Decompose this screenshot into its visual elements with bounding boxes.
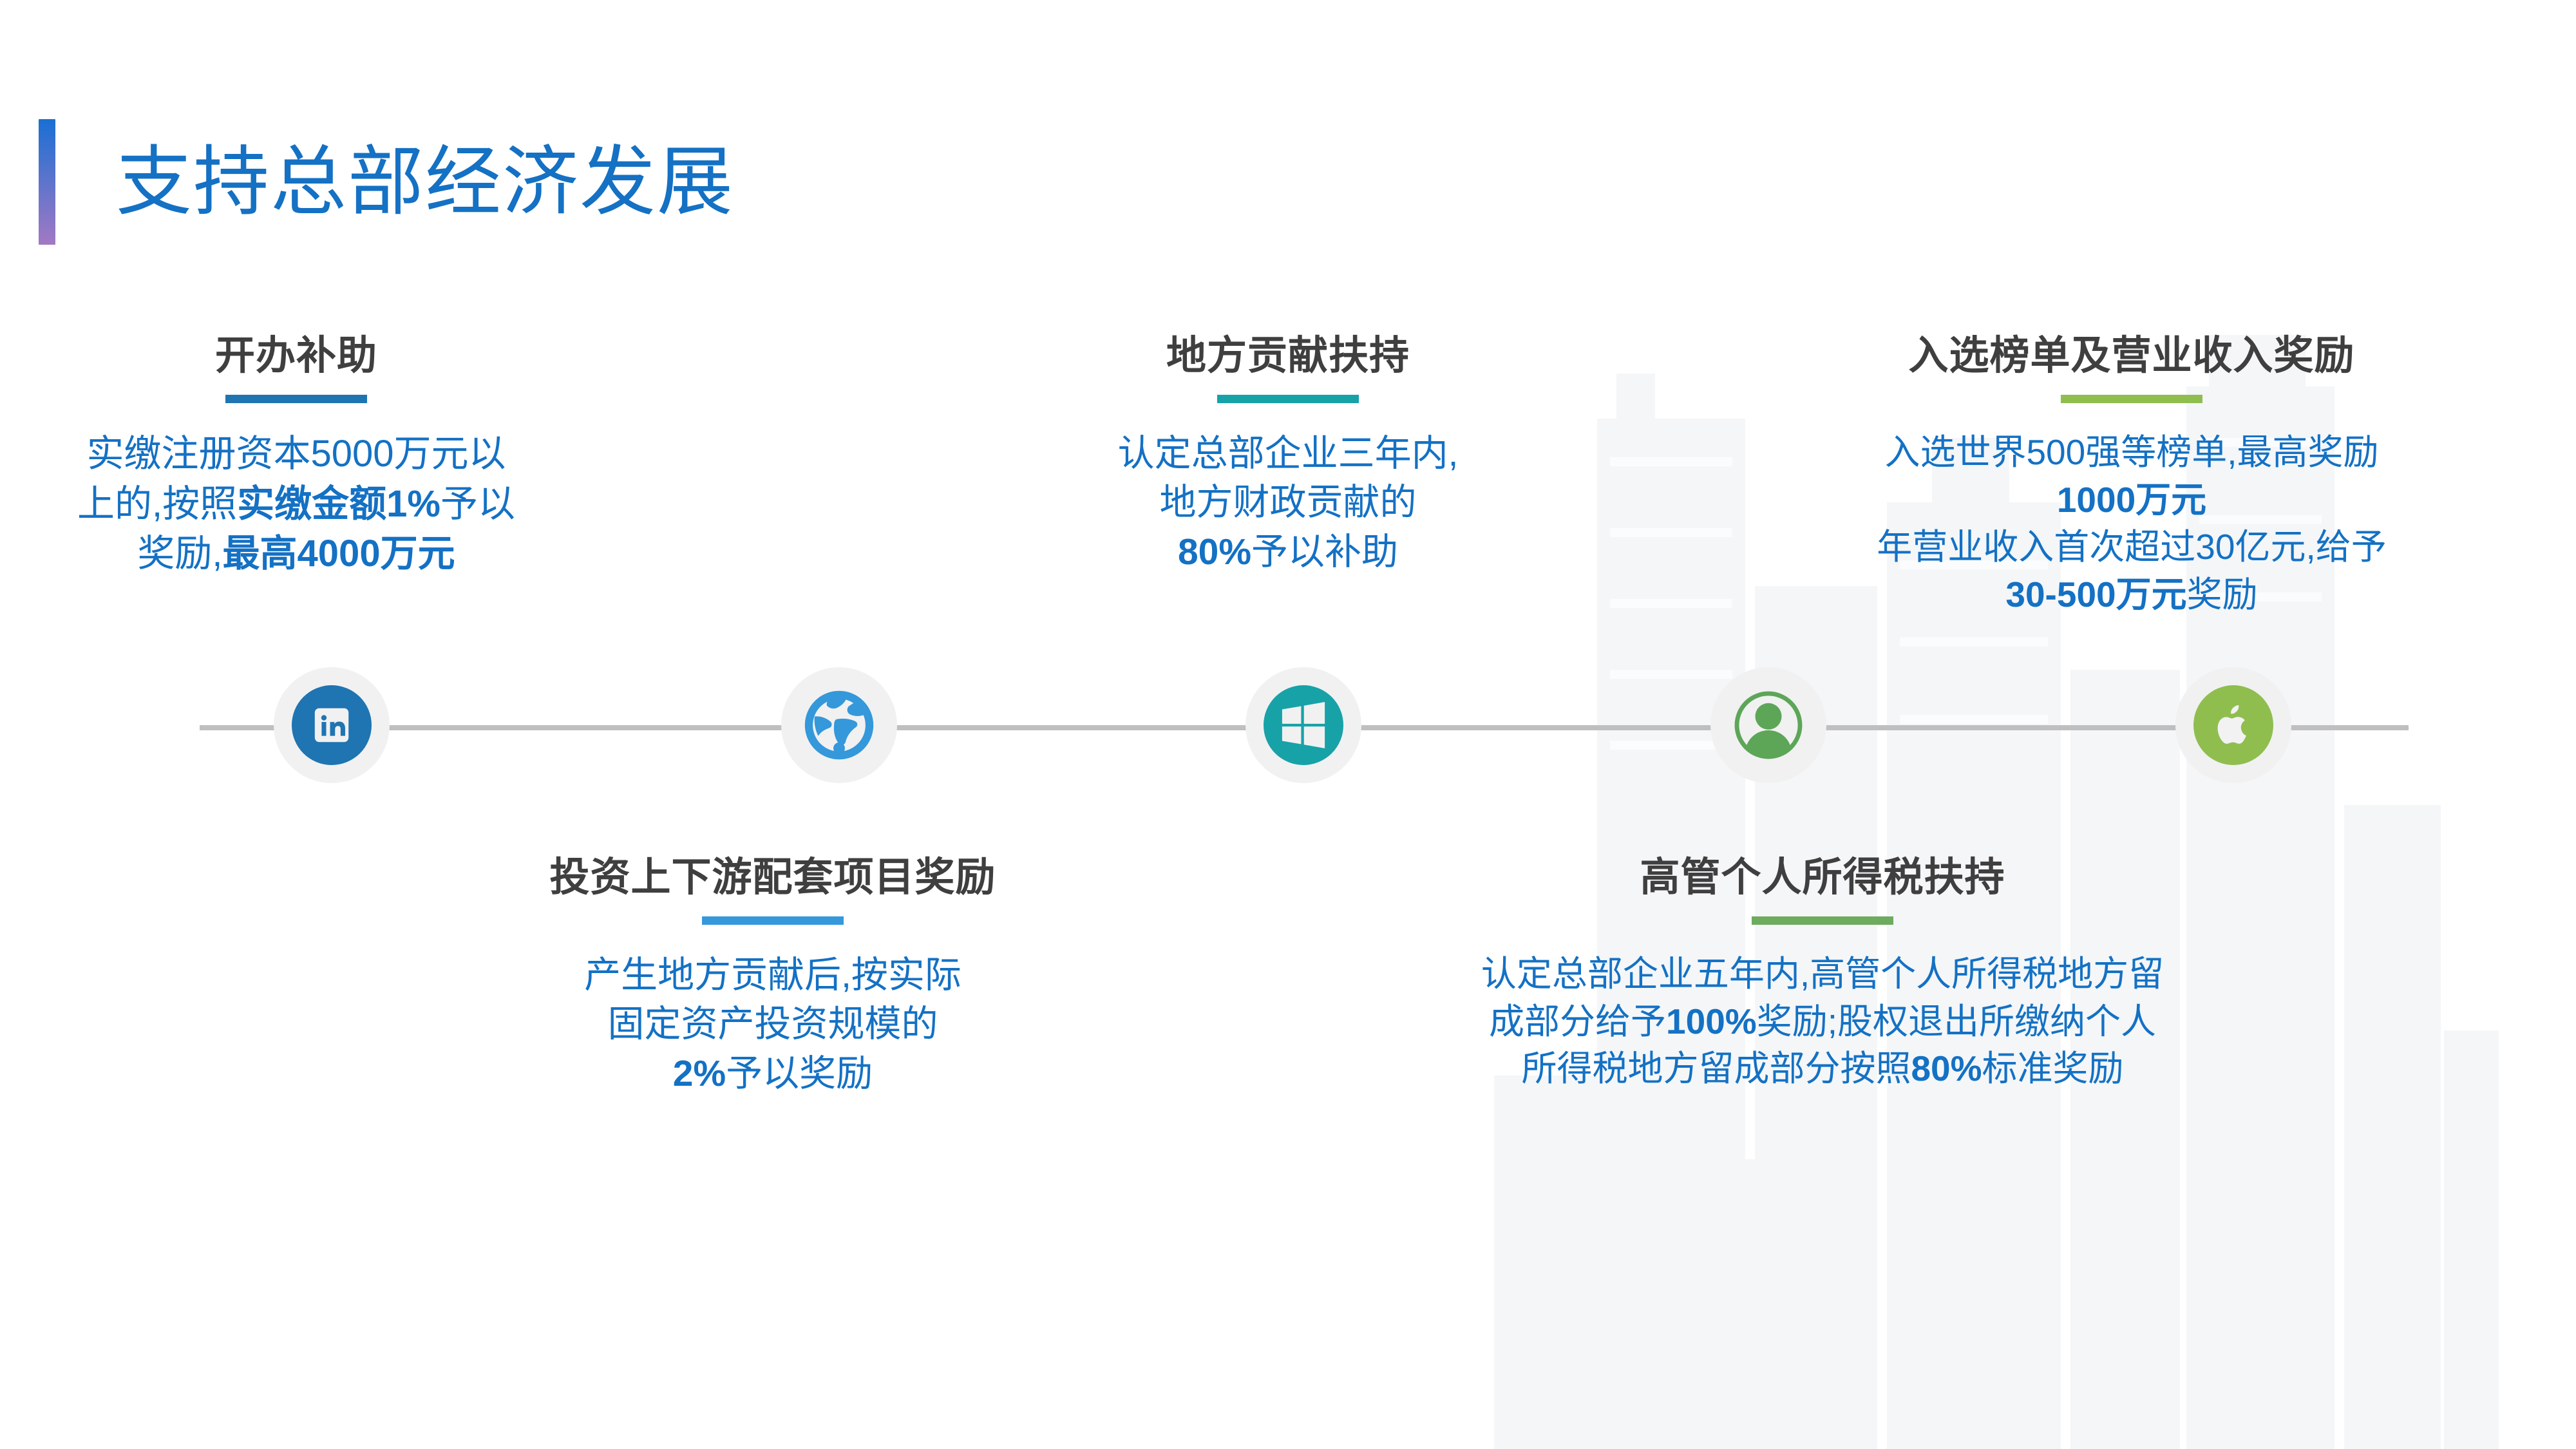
card-body-line: 地方财政贡献的: [966, 478, 1610, 527]
card-body: 认定总部企业三年内,地方财政贡献的80%予以补助: [966, 429, 1610, 576]
card-body-line: 1000万元: [1713, 477, 2550, 524]
card-gaoguan-suodeshui: 高管个人所得税扶持 认定总部企业五年内,高管个人所得税地方留成部分给予100%奖…: [1327, 857, 2318, 1093]
card-heading: 高管个人所得税扶持: [1327, 857, 2318, 900]
card-body-line: 年营业收入首次超过30亿元,给予: [1713, 524, 2550, 571]
card-body-line: 产生地方贡献后,按实际: [399, 951, 1146, 999]
card-body-line: 奖励,最高4000万元: [39, 529, 554, 579]
card-body-line: 所得税地方留成部分按照80%标准奖励: [1327, 1045, 2318, 1093]
page-title: 支持总部经济发展: [116, 144, 734, 220]
card-difang-gongxian: 地方贡献扶持 认定总部企业三年内,地方财政贡献的80%予以补助: [966, 335, 1610, 576]
card-rule: [2061, 395, 2202, 403]
card-rule: [225, 395, 367, 403]
timeline-node-1[interactable]: [274, 667, 390, 783]
timeline-node-5[interactable]: [2175, 667, 2291, 783]
card-rule: [702, 916, 844, 925]
card-body-line: 固定资产投资规模的: [399, 999, 1146, 1048]
card-body: 实缴注册资本5000万元以上的,按照实缴金额1%予以奖励,最高4000万元: [39, 429, 554, 579]
card-body-line: 80%予以补助: [966, 527, 1610, 576]
card-body-line: 上的,按照实缴金额1%予以: [39, 479, 554, 529]
linkedin-icon: [292, 685, 372, 765]
globe-icon: [799, 685, 879, 765]
card-body-line: 入选世界500强等榜单,最高奖励: [1713, 429, 2550, 477]
card-body: 产生地方贡献后,按实际固定资产投资规模的2%予以奖励: [399, 951, 1146, 1098]
card-body-line: 成部分给予100%奖励;股权退出所缴纳个人: [1327, 998, 2318, 1046]
timeline: [0, 723, 2576, 732]
timeline-node-3[interactable]: [1245, 667, 1361, 783]
title-accent-bar: [39, 119, 55, 245]
card-kaiban-buzhu: 开办补助 实缴注册资本5000万元以上的,按照实缴金额1%予以奖励,最高4000…: [39, 335, 554, 579]
card-body: 认定总部企业五年内,高管个人所得税地方留成部分给予100%奖励;股权退出所缴纳个…: [1327, 951, 2318, 1093]
card-body-line: 认定总部企业三年内,: [966, 429, 1610, 478]
card-heading: 开办补助: [39, 335, 554, 378]
card-ruxuan-bangdan: 入选榜单及营业收入奖励 入选世界500强等榜单,最高奖励1000万元年营业收入首…: [1713, 335, 2550, 619]
card-heading: 入选榜单及营业收入奖励: [1713, 335, 2550, 378]
card-rule: [1752, 916, 1893, 925]
page-title-row: 支持总部经济发展: [39, 119, 734, 245]
user-circle-icon: [1728, 685, 1808, 765]
card-body: 入选世界500强等榜单,最高奖励1000万元年营业收入首次超过30亿元,给予30…: [1713, 429, 2550, 619]
card-body-line: 2%予以奖励: [399, 1049, 1146, 1098]
apple-icon: [2193, 685, 2273, 765]
timeline-node-4[interactable]: [1710, 667, 1826, 783]
windows-icon: [1264, 685, 1343, 765]
card-rule: [1217, 395, 1359, 403]
card-body-line: 认定总部企业五年内,高管个人所得税地方留: [1327, 951, 2318, 998]
card-touzi-shangxiayou: 投资上下游配套项目奖励 产生地方贡献后,按实际固定资产投资规模的2%予以奖励: [399, 857, 1146, 1098]
card-heading: 投资上下游配套项目奖励: [399, 857, 1146, 900]
card-body-line: 30-500万元奖励: [1713, 571, 2550, 619]
card-heading: 地方贡献扶持: [966, 335, 1610, 378]
timeline-node-2[interactable]: [781, 667, 897, 783]
card-body-line: 实缴注册资本5000万元以: [39, 429, 554, 479]
